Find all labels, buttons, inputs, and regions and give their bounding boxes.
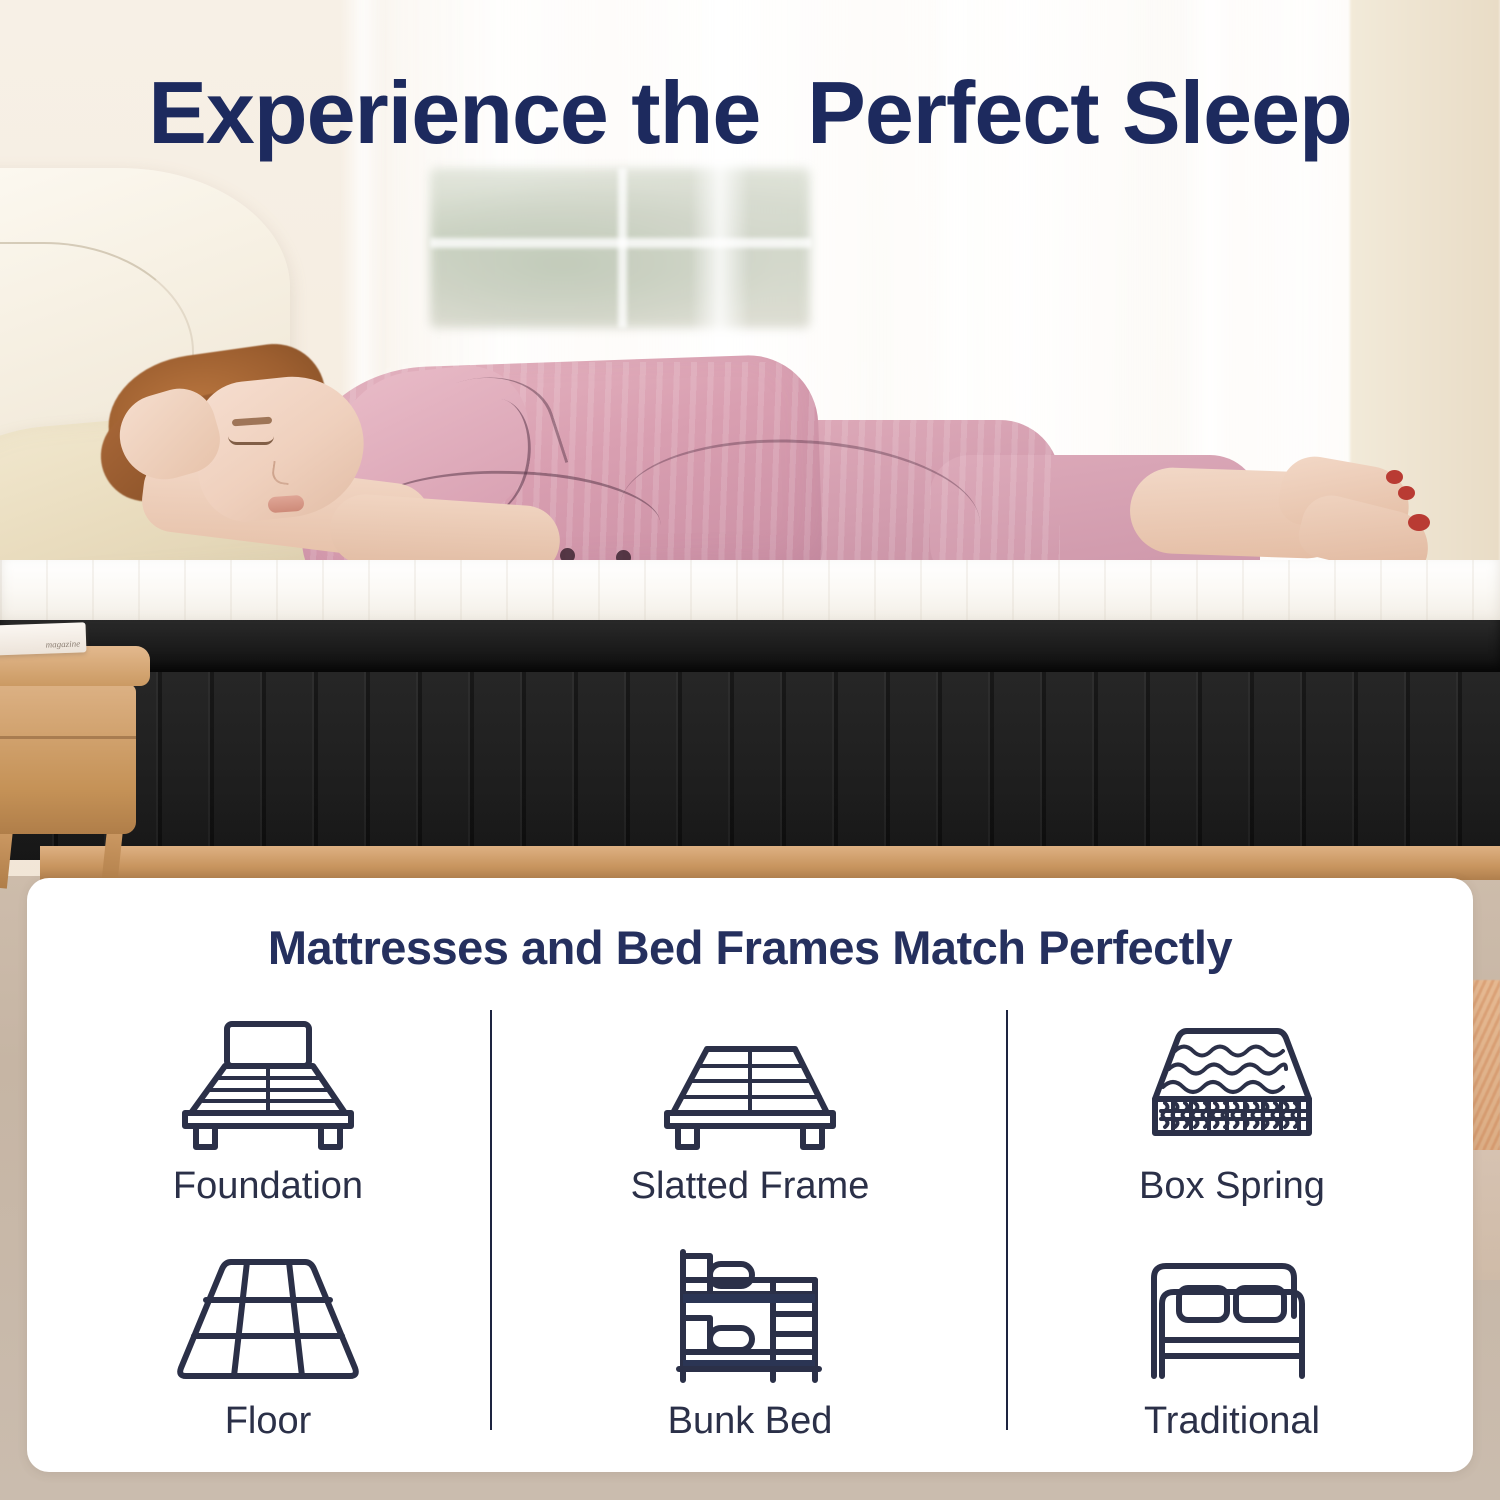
card-title: Mattresses and Bed Frames Match Perfectl… — [27, 920, 1473, 975]
compatibility-card: Mattresses and Bed Frames Match Perfectl… — [27, 878, 1473, 1472]
floor-tiles-icon — [163, 1254, 373, 1386]
slatted-frame-icon — [645, 1019, 855, 1151]
support-option-traditional[interactable]: Traditional — [991, 1231, 1473, 1466]
support-option-slatted-frame[interactable]: Slatted Frame — [509, 996, 991, 1231]
support-option-bunk-bed[interactable]: Bunk Bed — [509, 1231, 991, 1466]
support-option-foundation[interactable]: Foundation — [27, 996, 509, 1231]
support-option-label: Traditional — [1144, 1400, 1320, 1443]
toenail — [1398, 486, 1415, 500]
bunk-bed-icon — [655, 1254, 845, 1386]
box-spring-icon — [1127, 1019, 1337, 1151]
support-option-label: Foundation — [173, 1165, 363, 1208]
support-option-label: Slatted Frame — [631, 1165, 870, 1208]
magazine-label: magazine — [46, 638, 81, 649]
traditional-bed-icon — [1132, 1254, 1332, 1386]
lips — [267, 495, 304, 513]
page-headline: Experience the Perfect Sleep — [0, 62, 1500, 164]
mattress-rib-channels — [0, 672, 1500, 860]
support-option-label: Box Spring — [1139, 1165, 1325, 1208]
toenail — [1386, 470, 1403, 484]
support-options-grid: Foundation Slatted Frame — [27, 996, 1473, 1466]
nightstand-drawer-line — [0, 736, 136, 739]
support-option-label: Bunk Bed — [668, 1400, 833, 1443]
magazine-book: magazine — [0, 622, 86, 655]
support-option-label: Floor — [225, 1400, 312, 1443]
mattress-quilted-top — [0, 560, 1500, 628]
support-option-floor[interactable]: Floor — [27, 1231, 509, 1466]
nightstand-body — [0, 684, 136, 834]
bed-foundation-icon — [163, 1019, 373, 1151]
wooden-bed-frame-rail — [40, 846, 1500, 880]
closed-eye — [228, 436, 274, 445]
support-option-box-spring[interactable]: Box Spring — [991, 996, 1473, 1231]
toenail — [1408, 514, 1430, 531]
